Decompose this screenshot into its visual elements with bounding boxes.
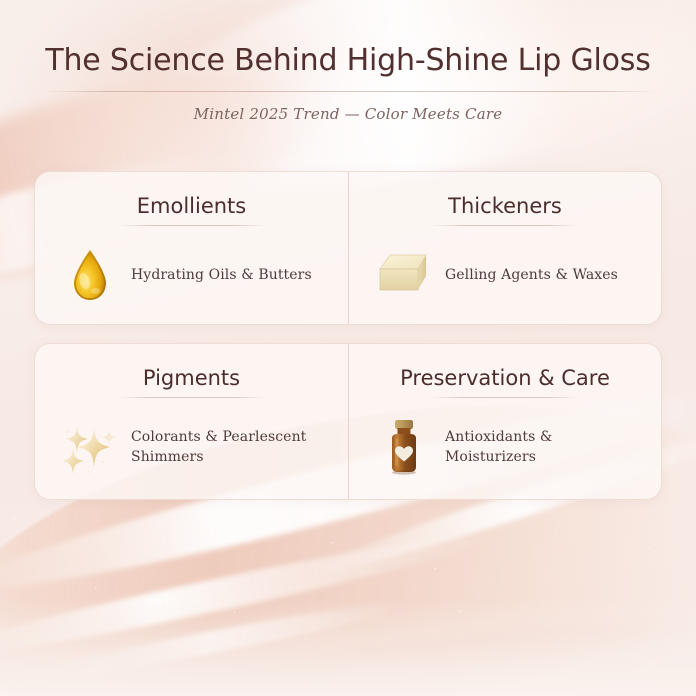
card-title: Preservation & Care (373, 366, 637, 390)
card-title: Pigments (59, 366, 324, 390)
card-title-divider (431, 397, 579, 398)
card-title-divider (118, 397, 266, 398)
content-layer: The Science Behind High-Shine Lip Gloss … (0, 0, 696, 696)
amber-bottle-icon (373, 414, 435, 480)
card-description: Colorants & Pearlescent Shimmers (131, 427, 324, 468)
card-preservation-and-care[interactable]: Preservation & Care (348, 344, 661, 499)
page-subtitle: Mintel 2025 Trend — Color Meets Care (44, 105, 652, 123)
sparkles-icon (59, 414, 121, 480)
card-description: Gelling Agents & Waxes (445, 265, 618, 285)
infographic-canvas: The Science Behind High-Shine Lip Gloss … (0, 0, 696, 696)
ingredient-card-grid: Emollients (34, 171, 662, 500)
oil-droplet-icon (59, 242, 121, 308)
page-title: The Science Behind High-Shine Lip Gloss (44, 44, 652, 77)
card-description: Hydrating Oils & Butters (131, 265, 312, 285)
card-thickeners[interactable]: Thickeners (348, 172, 661, 324)
card-row-top: Emollients (34, 171, 662, 325)
card-title: Emollients (59, 194, 324, 218)
card-description: Antioxidants & Moisturizers (445, 427, 637, 468)
card-row-bottom: Pigments (34, 343, 662, 500)
card-body: Gelling Agents & Waxes (373, 242, 637, 308)
card-pigments[interactable]: Pigments (35, 344, 348, 499)
card-body: Colorants & Pearlescent Shimmers (59, 414, 324, 480)
card-title: Thickeners (373, 194, 637, 218)
butter-block-icon (373, 242, 435, 308)
card-body: Antioxidants & Moisturizers (373, 414, 637, 480)
card-title-divider (118, 225, 266, 226)
card-emollients[interactable]: Emollients (35, 172, 348, 324)
card-title-divider (431, 225, 579, 226)
header: The Science Behind High-Shine Lip Gloss … (0, 0, 696, 123)
title-divider (44, 91, 656, 92)
card-body: Hydrating Oils & Butters (59, 242, 324, 308)
